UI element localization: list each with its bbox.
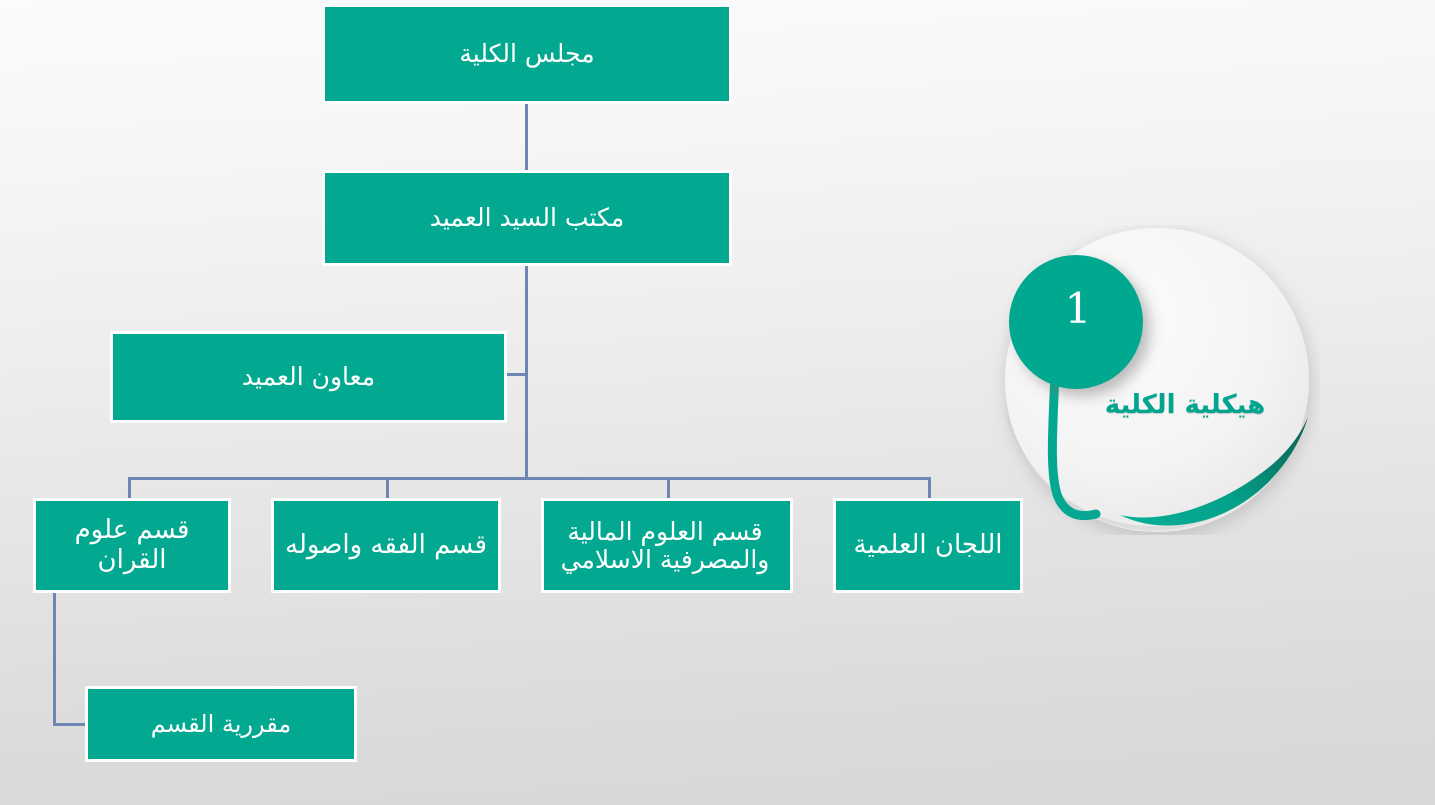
connector-quran-to-rapporteur-vertical bbox=[53, 593, 56, 725]
org-node-council-label: مجلس الكلية bbox=[455, 40, 598, 68]
org-node-department-rapporteur[interactable]: مقررية القسم bbox=[85, 686, 357, 762]
org-node-assistant-dean[interactable]: معاون العميد bbox=[110, 331, 507, 423]
org-node-dean-office-label: مكتب السيد العميد bbox=[426, 204, 628, 232]
org-node-department-rapporteur-label: مقررية القسم bbox=[147, 711, 296, 738]
org-node-islamic-finance-department-label: قسم العلوم المالية والمصرفية الاسلامي bbox=[540, 518, 790, 574]
org-node-council[interactable]: مجلس الكلية bbox=[322, 4, 732, 104]
org-node-islamic-finance-department[interactable]: قسم العلوم المالية والمصرفية الاسلامي bbox=[541, 498, 793, 593]
org-node-fiqh-department-label: قسم الفقه واصوله bbox=[281, 531, 491, 560]
org-node-assistant-dean-label: معاون العميد bbox=[238, 363, 379, 391]
slide-canvas: مجلس الكلية مكتب السيد العميد معاون العم… bbox=[0, 0, 1435, 805]
connector-council-to-deanoffice bbox=[525, 104, 528, 170]
org-node-fiqh-department[interactable]: قسم الفقه واصوله bbox=[271, 498, 501, 593]
org-node-scientific-committees[interactable]: اللجان العلمية bbox=[833, 498, 1023, 593]
org-node-dean-office[interactable]: مكتب السيد العميد bbox=[322, 170, 732, 266]
connector-department-bus bbox=[128, 477, 931, 480]
connector-trunk-to-assistant bbox=[507, 373, 527, 376]
decor-badge-circle bbox=[1009, 255, 1143, 389]
org-node-quran-sciences-department-label: قسم علوم القران bbox=[36, 516, 228, 574]
slide-title: هيكلية الكلية bbox=[1075, 391, 1295, 420]
decorative-badge-graphic bbox=[980, 225, 1320, 535]
connector-quran-to-rapporteur-horizontal bbox=[53, 723, 88, 726]
org-node-quran-sciences-department[interactable]: قسم علوم القران bbox=[33, 498, 231, 593]
org-node-scientific-committees-label: اللجان العلمية bbox=[850, 531, 1007, 560]
